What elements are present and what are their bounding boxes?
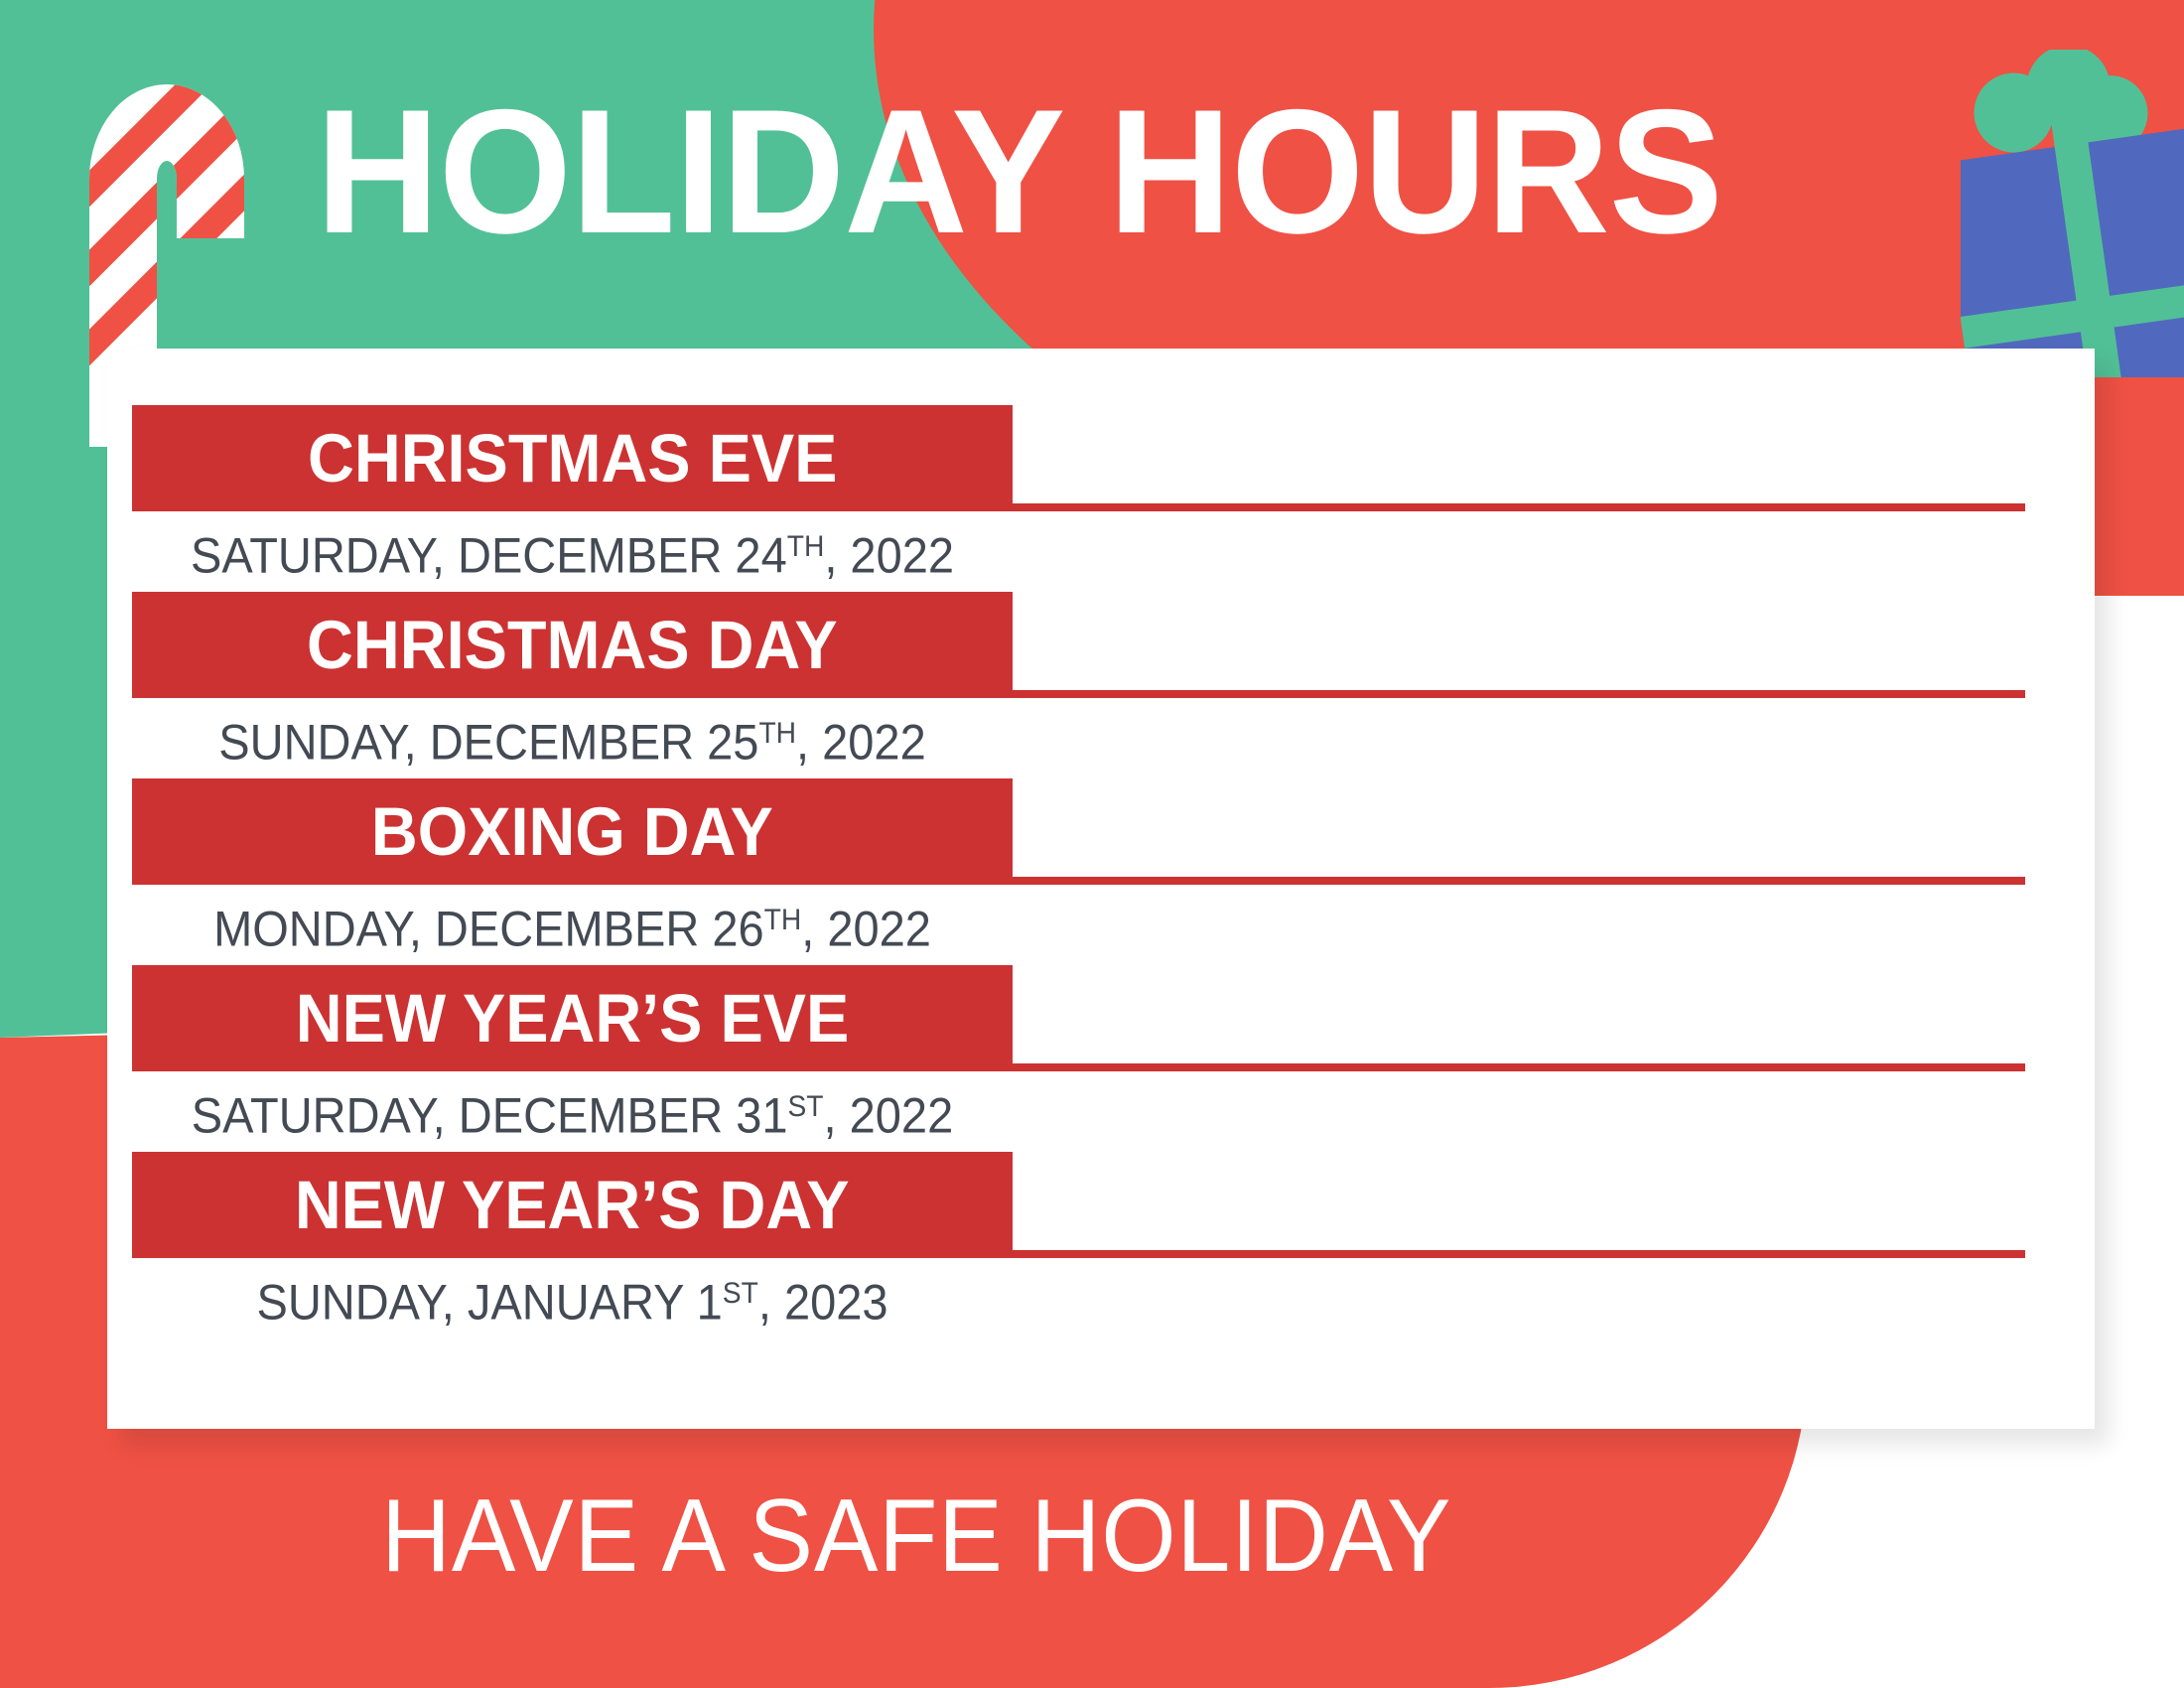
date-suffix: , 2022 <box>824 1088 954 1144</box>
holiday-name-bar: NEW YEAR’S DAY <box>132 1152 1013 1258</box>
date-ordinal: TH <box>758 717 796 750</box>
date-suffix: , 2022 <box>824 528 954 584</box>
holiday-hours-poster: HOLIDAY HOURS CHRISTMAS EVE SATURDAY, DE… <box>0 0 2184 1688</box>
hours-row-list: CHRISTMAS EVE SATURDAY, DECEMBER 24TH, 2… <box>107 349 2095 1429</box>
footer-message: HAVE A SAFE HOLIDAY <box>76 1481 2108 1591</box>
row-rule-line <box>1013 503 2025 511</box>
table-row: BOXING DAY MONDAY, DECEMBER 26TH, 2022 <box>107 778 2095 965</box>
holiday-name-bar: NEW YEAR’S EVE <box>132 965 1013 1071</box>
table-row: NEW YEAR’S DAY SUNDAY, JANUARY 1ST, 2023 <box>107 1152 2095 1338</box>
date-ordinal: TH <box>787 530 825 563</box>
table-row: CHRISTMAS DAY SUNDAY, DECEMBER 25TH, 202… <box>107 592 2095 778</box>
date-suffix: , 2022 <box>801 902 931 957</box>
row-rule-line <box>1013 877 2025 885</box>
date-ordinal: TH <box>764 904 802 936</box>
holiday-date-label: SATURDAY, DECEMBER 24TH, 2022 <box>159 516 987 587</box>
holiday-name-label: NEW YEAR’S DAY <box>295 1170 850 1241</box>
holiday-date-label: SATURDAY, DECEMBER 31ST, 2022 <box>159 1076 987 1147</box>
holiday-date-label: MONDAY, DECEMBER 26TH, 2022 <box>159 890 987 960</box>
hours-card: CHRISTMAS EVE SATURDAY, DECEMBER 24TH, 2… <box>107 349 2095 1429</box>
holiday-date-label: SUNDAY, DECEMBER 25TH, 2022 <box>159 703 987 774</box>
page-title: HOLIDAY HOURS <box>316 87 1856 256</box>
table-row: NEW YEAR’S EVE SATURDAY, DECEMBER 31ST, … <box>107 965 2095 1152</box>
gift-box-icon <box>1961 50 2184 377</box>
holiday-name-label: BOXING DAY <box>371 796 773 868</box>
date-prefix: SUNDAY, JANUARY 1 <box>256 1275 722 1331</box>
date-prefix: MONDAY, DECEMBER 26 <box>213 902 764 957</box>
holiday-date-label: SUNDAY, JANUARY 1ST, 2023 <box>159 1263 987 1334</box>
holiday-name-label: NEW YEAR’S EVE <box>296 983 849 1055</box>
holiday-name-bar: CHRISTMAS DAY <box>132 592 1013 698</box>
date-suffix: , 2022 <box>796 715 926 771</box>
row-rule-line <box>1013 1250 2025 1258</box>
date-prefix: SATURDAY, DECEMBER 24 <box>191 528 787 584</box>
date-suffix: , 2023 <box>758 1275 888 1331</box>
date-prefix: SUNDAY, DECEMBER 25 <box>218 715 758 771</box>
holiday-name-label: CHRISTMAS EVE <box>308 423 837 494</box>
date-prefix: SATURDAY, DECEMBER 31 <box>192 1088 788 1144</box>
holiday-name-label: CHRISTMAS DAY <box>307 610 838 681</box>
row-rule-line <box>1013 690 2025 698</box>
date-ordinal: ST <box>723 1277 758 1310</box>
date-ordinal: ST <box>787 1090 823 1123</box>
row-rule-line <box>1013 1063 2025 1071</box>
table-row: CHRISTMAS EVE SATURDAY, DECEMBER 24TH, 2… <box>107 405 2095 592</box>
holiday-name-bar: CHRISTMAS EVE <box>132 405 1013 511</box>
holiday-name-bar: BOXING DAY <box>132 778 1013 885</box>
